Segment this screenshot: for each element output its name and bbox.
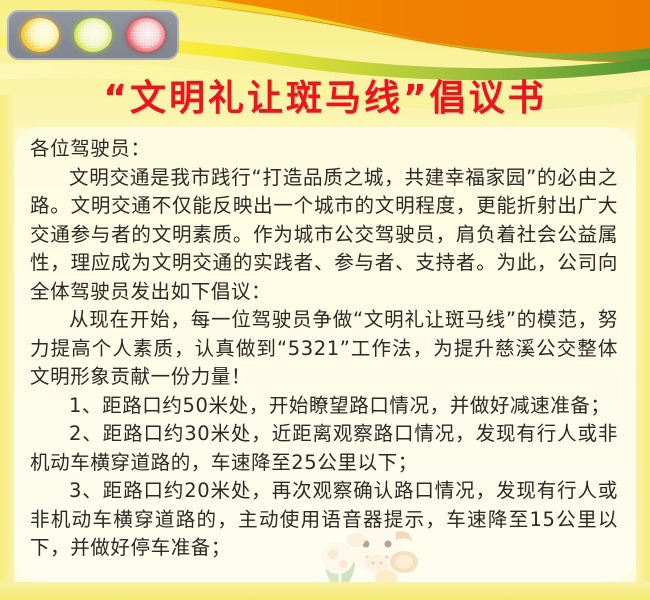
amber-lamp-icon — [21, 18, 59, 52]
paragraph-1: 文明交通是我市践行“打造品质之城，共建幸福家园”的必由之路。文明交通不仅能反映出… — [30, 164, 618, 307]
frame-right-edge — [636, 95, 650, 600]
poster-canvas: “文明礼让斑马线”倡议书 — [0, 0, 650, 600]
list-item-1: 1、距路口约50米处，开始瞭望路口情况，并做好减速准备； — [30, 392, 618, 421]
green-lamp-icon — [74, 18, 112, 52]
letter-body: 各位驾驶员： 文明交通是我市践行“打造品质之城，共建幸福家园”的必由之路。文明交… — [14, 127, 636, 563]
red-lamp-icon — [127, 18, 165, 52]
frame-left-edge — [0, 95, 14, 600]
list-item-2: 2、距路口约30米处，近距离观察路口情况，发现有行人或非机动车横穿道路的，车速降… — [30, 420, 618, 477]
paragraph-2: 从现在开始，每一位驾驶员争做“文明礼让斑马线”的模范，努力提高个人素质，认真做到… — [30, 306, 618, 392]
frame-bottom-edge — [0, 582, 650, 600]
traffic-light-icon — [7, 10, 179, 60]
letter-panel: 各位驾驶员： 文明交通是我市践行“打造品质之城，共建幸福家园”的必由之路。文明交… — [14, 127, 636, 582]
salutation: 各位驾驶员： — [30, 135, 618, 164]
list-item-3: 3、距路口约20米处，再次观察确认路口情况，发现有行人或非机动车横穿道路的，主动… — [30, 477, 618, 563]
page-title: “文明礼让斑马线”倡议书 — [0, 69, 650, 121]
